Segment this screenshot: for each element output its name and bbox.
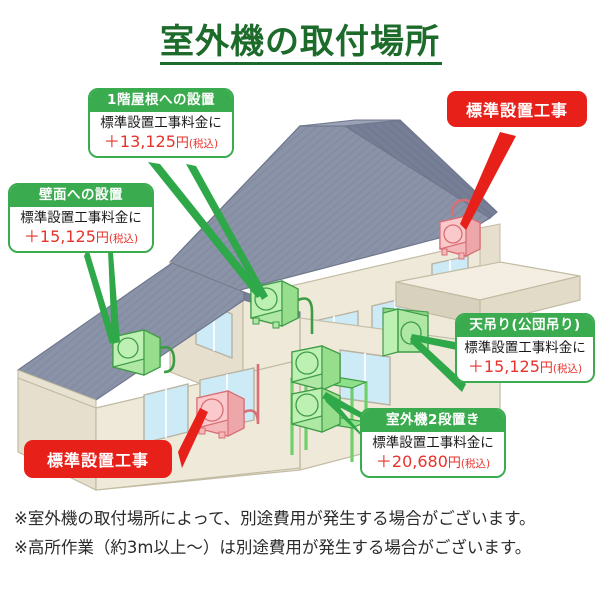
outdoor-unit-two-tier: [292, 346, 366, 462]
amount: 15,125: [484, 357, 540, 376]
yen-unit: 円: [448, 456, 461, 471]
pointer-roof1f: [148, 162, 264, 298]
window-1f-a: [144, 384, 188, 443]
outdoor-unit-ceiling-hung: [383, 308, 428, 356]
callout-roof-1f-header: 1階屋根への設置: [90, 90, 232, 112]
outdoor-unit-roof-1f: [251, 281, 312, 334]
pointer-wall-2: [84, 248, 116, 344]
outdoor-unit-balcony-standard: [440, 200, 480, 259]
window-2f-b: [310, 311, 358, 373]
callout-wall-line1: 標準設置工事料金に: [15, 210, 147, 226]
infographic-page: 室外機の取付場所: [0, 0, 600, 600]
plus-sign: ＋: [468, 357, 484, 376]
pointer-standard-top: [460, 132, 516, 230]
wall-2f-left: [170, 270, 243, 400]
badge-standard-install-bottom[interactable]: 標準設置工事: [24, 440, 172, 478]
callout-wall-header: 壁面への設置: [10, 185, 152, 207]
callout-two-tier[interactable]: 室外機2段置き 標準設置工事料金に ＋20,680円(税込): [360, 408, 506, 478]
outdoor-unit-wall: [113, 330, 174, 375]
wall-2f-front: [243, 240, 490, 400]
tax-note: (税込): [109, 233, 138, 245]
roof-ridge: [300, 120, 400, 126]
roof-1f-left: [18, 263, 244, 400]
tax-note: (税込): [189, 138, 218, 150]
amount: 20,680: [392, 452, 448, 471]
title-underline: [160, 62, 442, 65]
window-1f-b: [200, 368, 254, 432]
callout-two-tier-header: 室外機2段置き: [362, 410, 504, 432]
roof-right-slope: [345, 120, 497, 218]
amount: 15,125: [40, 227, 96, 246]
callout-roof-1f-line1: 標準設置工事料金に: [95, 115, 227, 131]
plus-sign: ＋: [104, 132, 120, 151]
callout-wall-price: ＋15,125円(税込): [15, 227, 147, 247]
pointer-roof1f-2: [186, 164, 268, 300]
page-title: 室外機の取付場所: [0, 14, 600, 63]
plus-sign: ＋: [24, 227, 40, 246]
callout-wall[interactable]: 壁面への設置 標準設置工事料金に ＋15,125円(税込): [8, 183, 154, 253]
badge-standard-install-top[interactable]: 標準設置工事: [447, 91, 587, 127]
callout-two-tier-line1: 標準設置工事料金に: [367, 435, 499, 451]
tax-note: (税込): [553, 363, 582, 375]
window-2f-d: [432, 256, 468, 308]
callout-ceiling-hung-price: ＋15,125円(税込): [462, 357, 588, 377]
callout-ceiling-hung-header: 天吊り(公団吊り): [457, 315, 593, 337]
balcony-slab-top: [396, 262, 580, 300]
window-2f-c: [372, 295, 418, 358]
window-1f-c: [340, 350, 390, 405]
callout-ceiling-hung-line1: 標準設置工事料金に: [462, 340, 588, 356]
footer-notes: ※室外機の取付場所によって、別途費用が発生する場合がございます。 ※高所作業（約…: [14, 508, 590, 567]
outdoor-unit-ground-standard: [197, 364, 258, 438]
yen-unit: 円: [96, 231, 109, 246]
yen-unit: 円: [540, 361, 553, 376]
window-2f-a: [196, 300, 232, 358]
plus-sign: ＋: [376, 452, 392, 471]
callout-roof-1f-price: ＋13,125円(税込): [95, 132, 227, 152]
pointer-standard-bottom: [178, 408, 208, 468]
tax-note: (税込): [461, 458, 490, 470]
callout-ceiling-hung[interactable]: 天吊り(公団吊り) 標準設置工事料金に ＋15,125円(税込): [455, 313, 595, 383]
callout-two-tier-price: ＋20,680円(税込): [367, 452, 499, 472]
footer-note-2: ※高所作業（約3m以上～）は別途費用が発生する場合がございます。: [14, 537, 590, 559]
roof-1f-right: [244, 292, 300, 318]
balcony-wall-panel: [480, 224, 500, 266]
callout-roof-1f[interactable]: 1階屋根への設置 標準設置工事料金に ＋13,125円(税込): [88, 88, 234, 158]
roof-eave-front: [170, 262, 243, 297]
roof-1f-eave: [18, 370, 96, 408]
pointer-wall: [108, 240, 120, 344]
footer-note-1: ※室外機の取付場所によって、別途費用が発生する場合がございます。: [14, 508, 590, 530]
yen-unit: 円: [176, 136, 189, 151]
amount: 13,125: [120, 132, 176, 151]
